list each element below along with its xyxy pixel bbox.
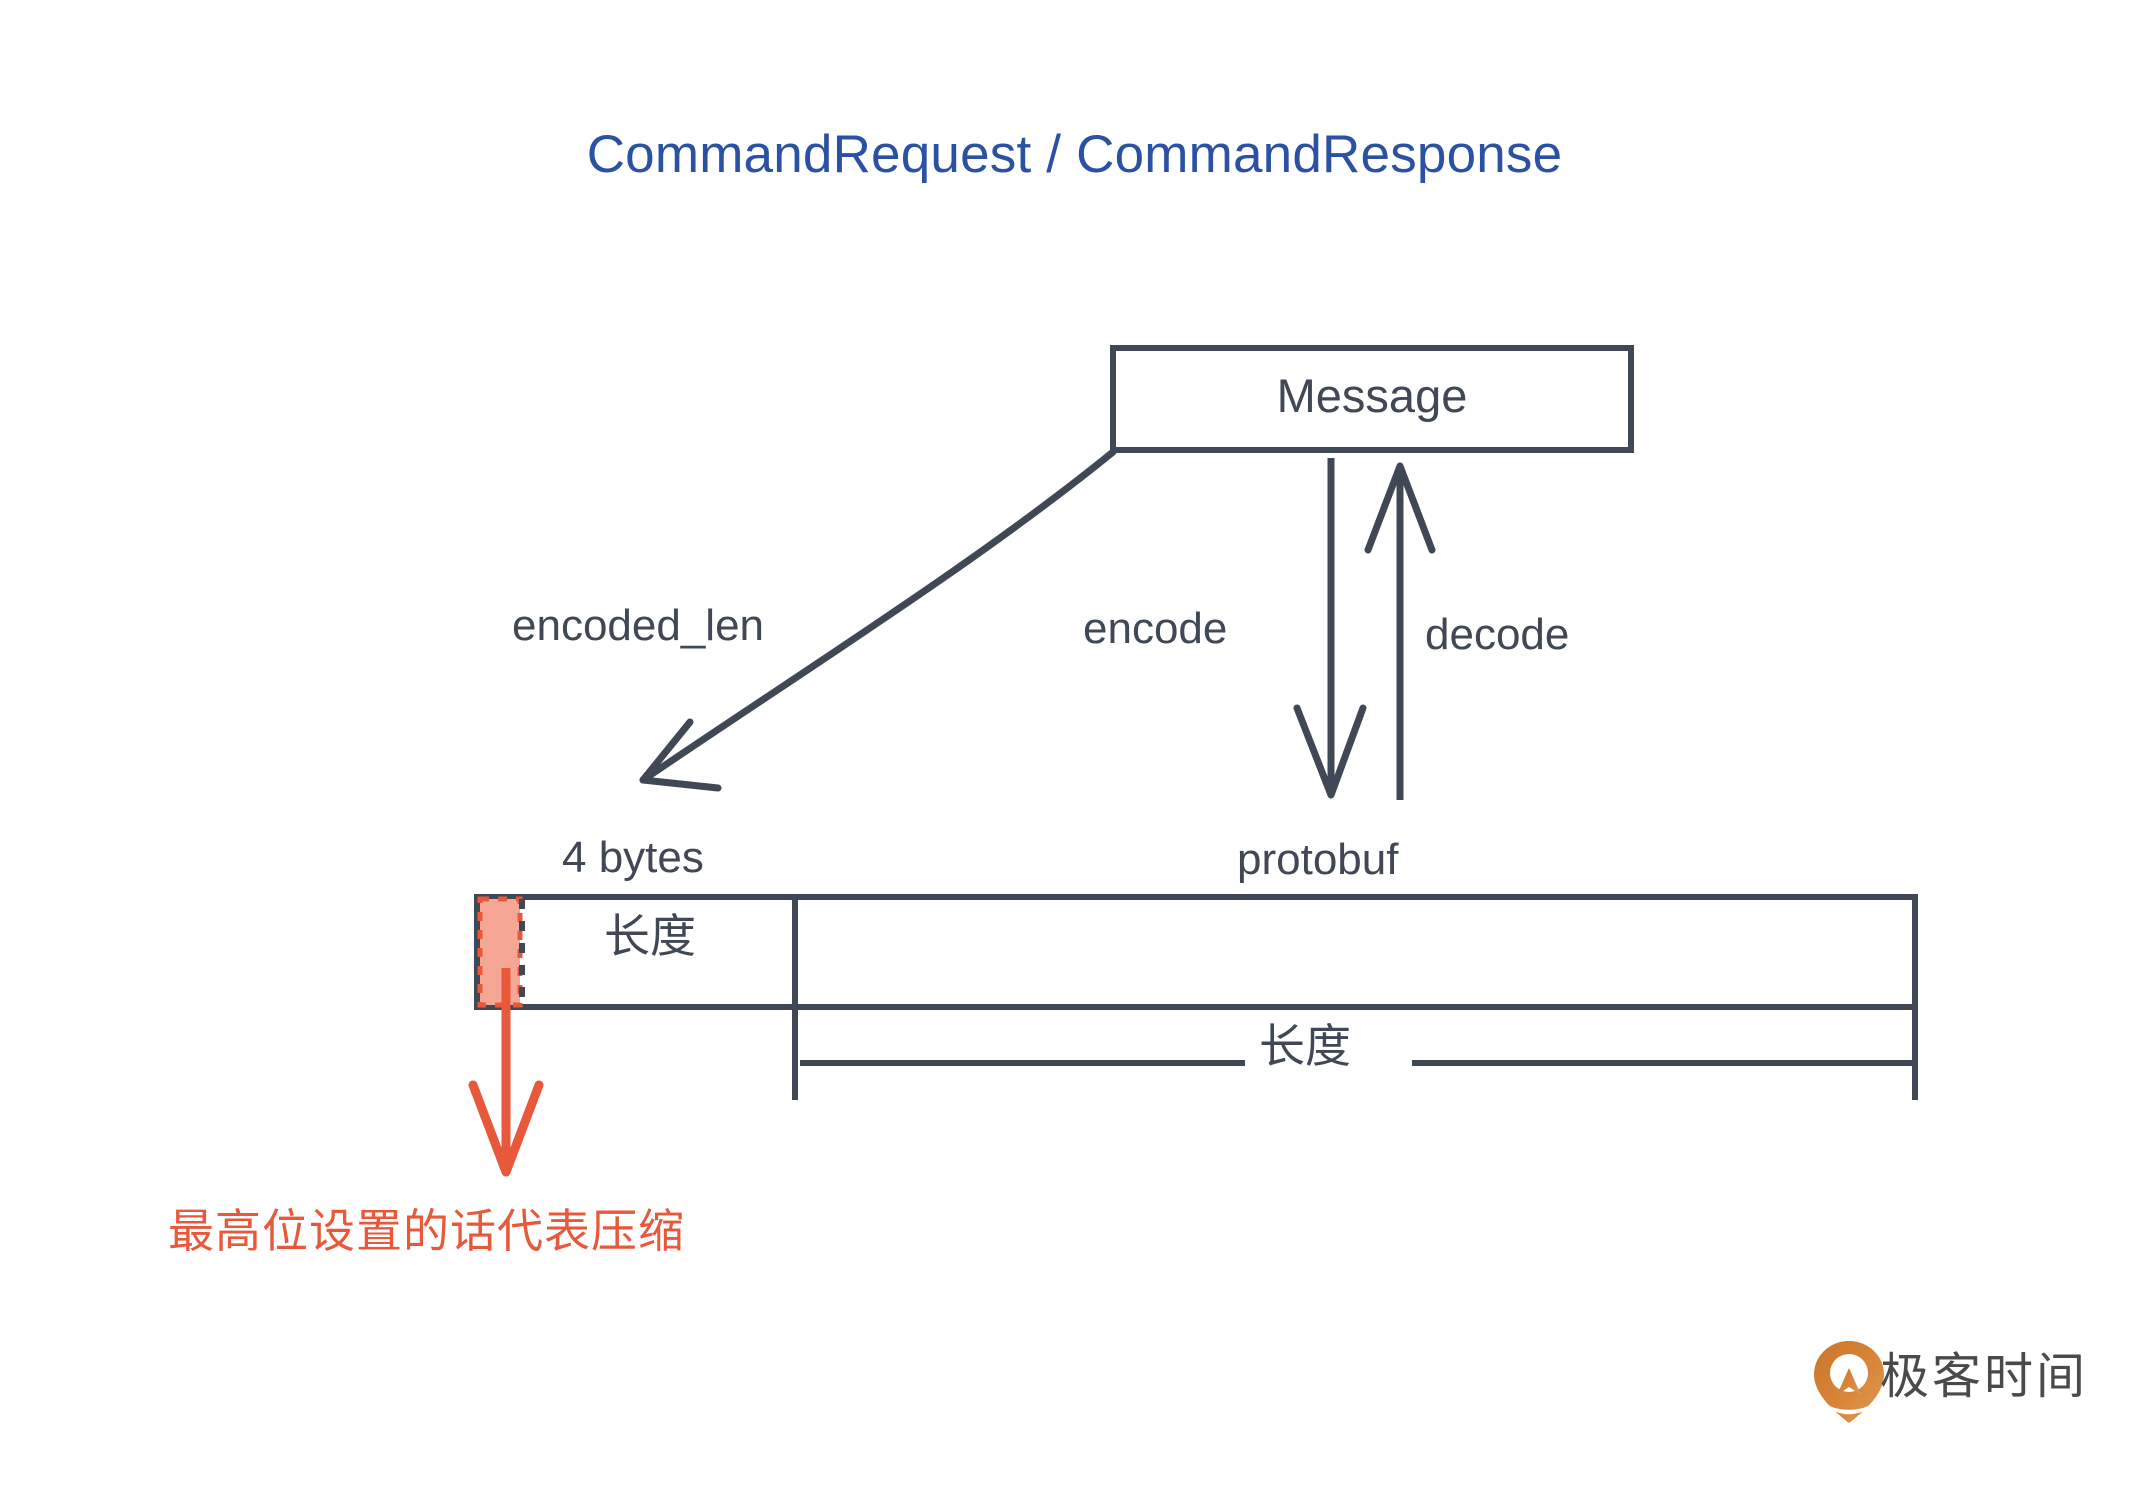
payload-cell-box (795, 897, 1915, 1007)
diagram-canvas (0, 0, 2149, 1485)
encode-edge-label: encode (1083, 607, 1227, 651)
geektime-logo-mark (1812, 1340, 1886, 1424)
length-span-label: 长度 (1245, 1023, 1365, 1069)
encoded-len-edge-label: encoded_len (512, 604, 764, 648)
geektime-logo-text: 极客时间 (1880, 1353, 2088, 1402)
protobuf-annotation: protobuf (1237, 838, 1398, 882)
diagram-title: CommandRequest / CommandResponse (0, 128, 2149, 181)
length-cell-label: 长度 (505, 913, 795, 959)
decode-edge-label: decode (1425, 613, 1569, 657)
four-bytes-annotation: 4 bytes (562, 836, 704, 880)
message-node-label: Message (1113, 372, 1631, 419)
compression-note: 最高位设置的话代表压缩 (168, 1208, 685, 1254)
